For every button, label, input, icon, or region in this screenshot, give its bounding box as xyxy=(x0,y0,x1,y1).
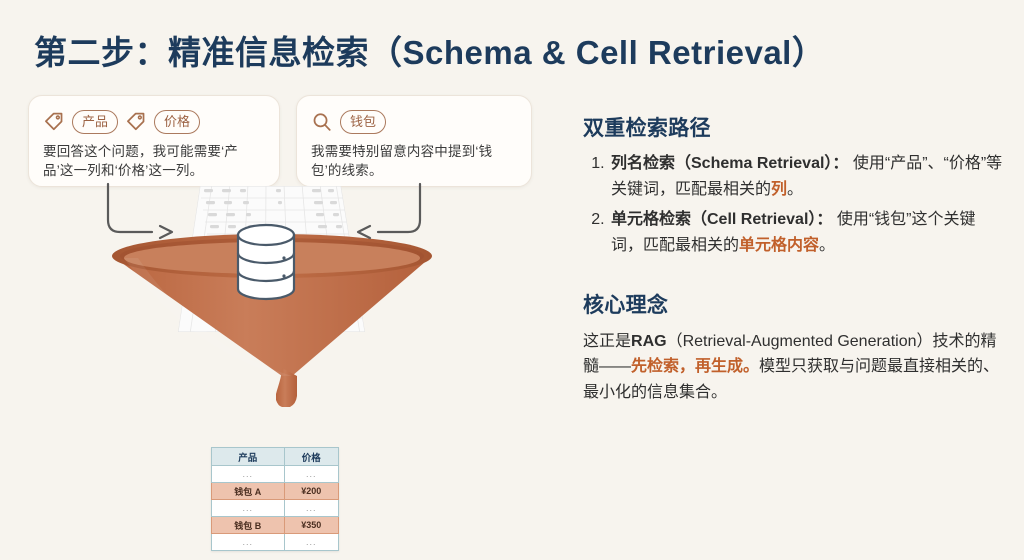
table-cell: 钱包 B xyxy=(212,517,285,534)
table-cell: ... xyxy=(212,466,285,483)
table-cell: ... xyxy=(284,466,338,483)
step-highlight: 列 xyxy=(771,181,787,198)
core-concept-text: 这正是RAG（Retrieval-Augmented Generation）技术… xyxy=(583,329,1003,406)
page-title: 第二步：精准信息检索（Schema & Cell Retrieval） xyxy=(34,26,825,74)
step-lead: 列名检索（Schema Retrieval）： xyxy=(611,155,848,172)
step-body-after: 。 xyxy=(787,181,803,198)
step-lead: 单元格检索（Cell Retrieval）： xyxy=(611,211,832,228)
slide-canvas: 第二步：精准信息检索（Schema & Cell Retrieval） 产品 价… xyxy=(0,0,1024,560)
table-row-highlighted: 钱包 A ¥200 xyxy=(212,483,339,500)
thought-card-cell: 钱包 我需要特别留意内容中提到‘钱包’的线索。 xyxy=(296,95,532,187)
table-cell: ... xyxy=(212,534,285,551)
pill-product: 产品 xyxy=(72,110,118,134)
arrow-down-left-icon xyxy=(378,184,420,232)
arrow-down-right-icon xyxy=(108,184,152,232)
thought-card-cell-text: 我需要特别留意内容中提到‘钱包’的线索。 xyxy=(311,142,517,180)
table-row: ... ... xyxy=(212,534,339,551)
table-row: ... ... xyxy=(212,466,339,483)
step-highlight: 单元格内容 xyxy=(739,237,819,254)
section-dual-retrieval: 双重检索路径 列名检索（Schema Retrieval）： 使用“产品”、“价… xyxy=(583,112,1003,259)
search-icon xyxy=(311,111,333,133)
pill-wallet: 钱包 xyxy=(340,110,386,134)
pill-price: 价格 xyxy=(154,110,200,134)
table-header-price: 价格 xyxy=(284,448,338,466)
tag-icon xyxy=(125,111,147,133)
section-core-concept: 核心理念 这正是RAG（Retrieval-Augmented Generati… xyxy=(583,289,1003,406)
core-highlight: 先检索，再生成。 xyxy=(631,358,759,375)
table-header-product: 产品 xyxy=(212,448,285,466)
arrowhead-left-icon xyxy=(358,226,370,238)
database-cylinder-icon xyxy=(238,225,294,299)
core-before: 这正是 xyxy=(583,333,631,350)
table-row: ... ... xyxy=(212,500,339,517)
table-cell: ¥200 xyxy=(284,483,338,500)
arrowhead-right-icon xyxy=(160,226,172,238)
thought-card-schema-text: 要回答这个问题，我可能需要‘产品’这一列和‘价格’这一列。 xyxy=(43,142,265,180)
step-body-after: 。 xyxy=(819,237,835,254)
funnel-diagram xyxy=(60,180,480,410)
section-title-dual-retrieval: 双重检索路径 xyxy=(583,112,1003,142)
table-header-row: 产品 价格 xyxy=(212,448,339,466)
right-content-column: 双重检索路径 列名检索（Schema Retrieval）： 使用“产品”、“价… xyxy=(583,112,1003,405)
tag-row-left: 产品 价格 xyxy=(43,109,265,135)
table-cell: ... xyxy=(284,534,338,551)
list-item: 列名检索（Schema Retrieval）： 使用“产品”、“价格”等关键词，… xyxy=(609,151,1003,203)
result-table: 产品 价格 ... ... 钱包 A ¥200 ... ... 钱包 B ¥35… xyxy=(211,447,339,551)
section-title-core-concept: 核心理念 xyxy=(583,289,1003,319)
table-cell: ¥350 xyxy=(284,517,338,534)
table-cell: 钱包 A xyxy=(212,483,285,500)
table-body: ... ... 钱包 A ¥200 ... ... 钱包 B ¥350 ... … xyxy=(212,466,339,551)
retrieval-steps-list: 列名检索（Schema Retrieval）： 使用“产品”、“价格”等关键词，… xyxy=(583,151,1003,259)
list-item: 单元格检索（Cell Retrieval）： 使用“钱包”这个关键词，匹配最相关… xyxy=(609,207,1003,259)
tag-icon xyxy=(43,111,65,133)
table-cell: ... xyxy=(212,500,285,517)
thought-card-schema: 产品 价格 要回答这个问题，我可能需要‘产品’这一列和‘价格’这一列。 xyxy=(28,95,280,187)
core-bold-rag: RAG xyxy=(631,333,667,350)
tag-row-right: 钱包 xyxy=(311,109,517,135)
table-row-highlighted: 钱包 B ¥350 xyxy=(212,517,339,534)
table-cell: ... xyxy=(284,500,338,517)
